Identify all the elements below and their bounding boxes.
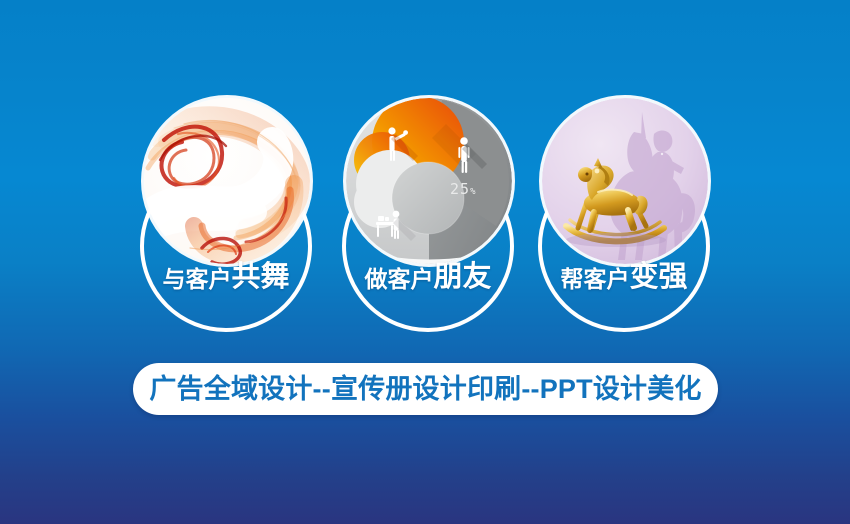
badge-artwork-abstract-smoke xyxy=(144,98,310,264)
badge-artwork-infographic: 25% xyxy=(346,98,512,264)
badge-stronger[interactable]: 帮客户变强 xyxy=(524,92,724,342)
badge-label-primary: 帮客户 xyxy=(560,266,629,292)
badge-label-emphasis: 朋友 xyxy=(433,261,491,293)
badge-label-friend: 做客户朋友 xyxy=(328,263,528,292)
badge-label-primary: 做客户 xyxy=(364,266,433,292)
badge-label-emphasis: 变强 xyxy=(629,261,687,293)
badge-label-emphasis: 共舞 xyxy=(231,261,289,293)
badge-label-stronger: 帮客户变强 xyxy=(524,263,724,292)
badge-friend[interactable]: 25% 做客户朋友 xyxy=(328,92,528,342)
badge-dance[interactable]: 与客户共舞 xyxy=(126,92,326,342)
badge-artwork-rocking-horse xyxy=(542,98,708,264)
services-banner[interactable]: 广告全域设计--宣传册设计印刷--PPT设计美化 xyxy=(133,363,718,415)
badge-group: 与客户共舞 xyxy=(0,0,850,345)
services-banner-text: 广告全域设计--宣传册设计印刷--PPT设计美化 xyxy=(149,376,701,403)
badge-label-dance: 与客户共舞 xyxy=(126,263,326,292)
promo-banner-canvas: 与客户共舞 xyxy=(0,0,850,524)
badge-label-primary: 与客户 xyxy=(162,266,231,292)
